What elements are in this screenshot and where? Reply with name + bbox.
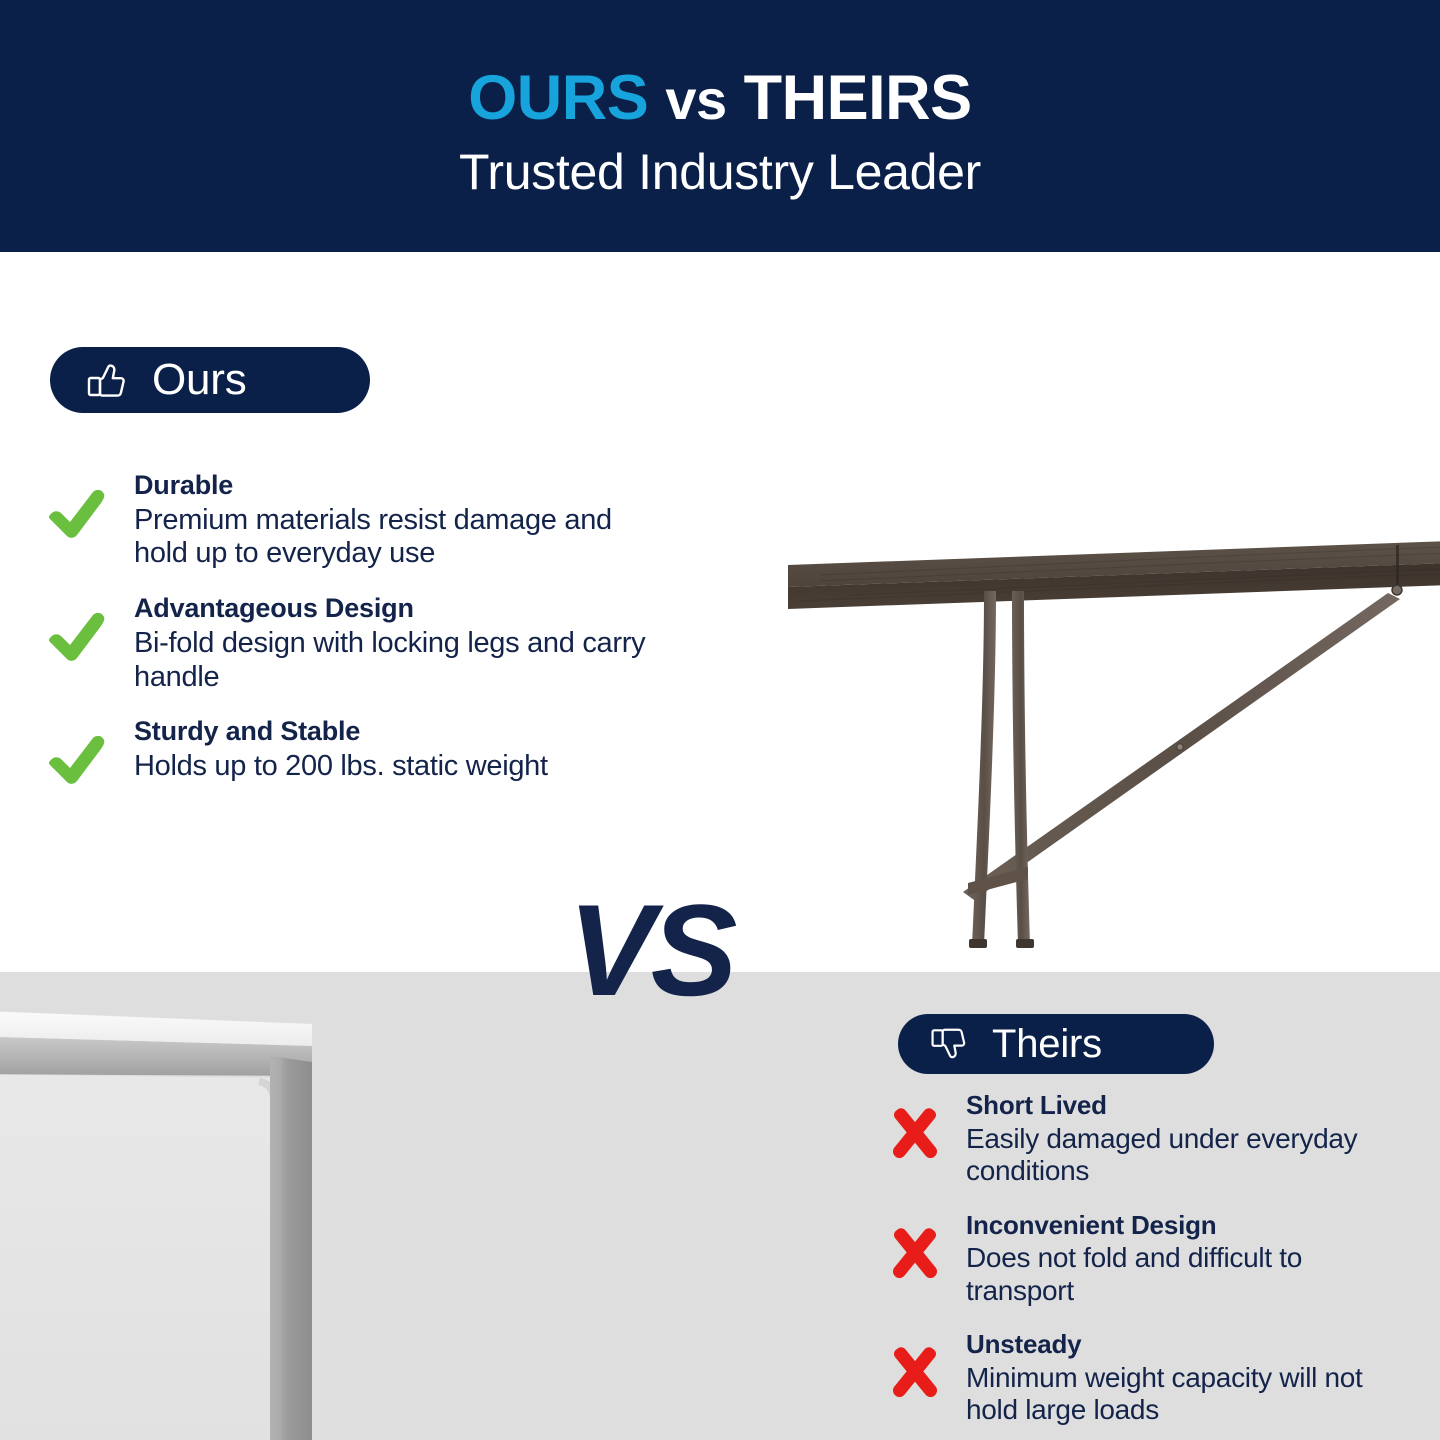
feature-description: Bi-fold design with locking legs and car…	[134, 627, 666, 694]
title-ours-word: OURS	[468, 63, 648, 133]
feature-title: Inconvenient Design	[966, 1210, 1408, 1241]
title-vs-word: vs	[665, 68, 726, 131]
badge-ours-label: Ours	[152, 358, 247, 402]
feature-title: Sturdy and Stable	[134, 716, 666, 748]
red-x-icon	[888, 1329, 966, 1399]
feature-title: Unsteady	[966, 1329, 1408, 1360]
green-check-icon	[46, 470, 134, 540]
list-item: Advantageous Design Bi-fold design with …	[46, 593, 666, 694]
vs-divider-label: VS	[568, 885, 733, 1015]
feature-description: Holds up to 200 lbs. static weight	[134, 750, 666, 784]
feature-title: Short Lived	[966, 1090, 1408, 1121]
feature-description: Does not fold and difficult to transport	[966, 1242, 1408, 1307]
badge-theirs-label: Theirs	[992, 1024, 1102, 1064]
green-check-icon	[46, 593, 134, 663]
list-item: Sturdy and Stable Holds up to 200 lbs. s…	[46, 716, 666, 786]
red-x-icon	[888, 1210, 966, 1280]
thumbs-down-icon	[928, 1023, 970, 1065]
title-theirs-word: THEIRS	[744, 63, 972, 133]
badge-theirs[interactable]: Theirs	[898, 1014, 1214, 1074]
feature-description: Premium materials resist damage and hold…	[134, 504, 666, 571]
ours-feature-list: Durable Premium materials resist damage …	[46, 470, 666, 808]
page-title: OURS vs THEIRS	[468, 65, 971, 131]
green-check-icon	[46, 716, 134, 786]
feature-description: Minimum weight capacity will not hold la…	[966, 1362, 1408, 1427]
list-item: Durable Premium materials resist damage …	[46, 470, 666, 571]
page-subtitle: Trusted Industry Leader	[459, 143, 981, 201]
header-banner: OURS vs THEIRS Trusted Industry Leader	[0, 0, 1440, 252]
feature-title: Durable	[134, 470, 666, 502]
feature-description: Easily damaged under everyday conditions	[966, 1123, 1408, 1188]
theirs-feature-list: Short Lived Easily damaged under everyda…	[888, 1090, 1408, 1440]
feature-title: Advantageous Design	[134, 593, 666, 625]
list-item: Inconvenient Design Does not fold and di…	[888, 1210, 1408, 1308]
red-x-icon	[888, 1090, 966, 1160]
list-item: Unsteady Minimum weight capacity will no…	[888, 1329, 1408, 1427]
badge-ours[interactable]: Ours	[50, 347, 370, 413]
comparison-infographic: OURS vs THEIRS Trusted Industry Leader	[0, 0, 1440, 1440]
thumbs-up-icon	[84, 357, 130, 403]
list-item: Short Lived Easily damaged under everyda…	[888, 1090, 1408, 1188]
